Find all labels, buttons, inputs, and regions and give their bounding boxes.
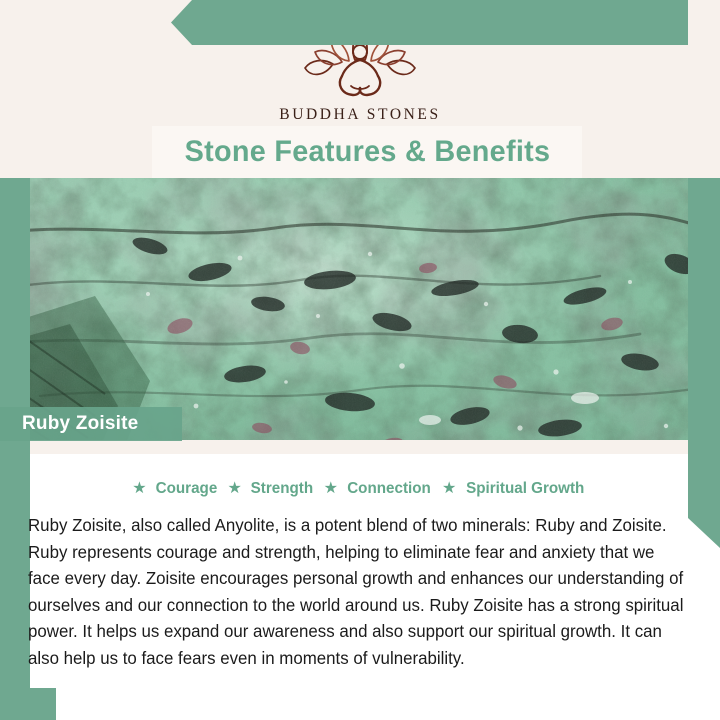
benefits-list: ★ Courage ★ Strength ★ Connection ★ Spir… <box>30 480 690 498</box>
benefit-label: Connection <box>347 480 431 498</box>
benefit-item-spiritual-growth: ★ Spiritual Growth <box>442 480 588 498</box>
frame-bottom-bar <box>0 688 56 720</box>
benefit-label: Courage <box>155 480 217 498</box>
benefit-item-strength: ★ Strength <box>227 480 314 498</box>
page-title-band: Stone Features & Benefits <box>152 126 582 178</box>
infographic-page: BUDDHA STONES Stone Features & Benefits … <box>0 0 720 720</box>
star-icon: ★ <box>324 481 338 497</box>
star-icon: ★ <box>227 481 241 497</box>
stone-description: Ruby Zoisite, also called Anyolite, is a… <box>28 512 684 672</box>
star-icon: ★ <box>132 481 146 497</box>
page-title: Stone Features & Benefits <box>184 135 550 169</box>
benefit-label: Spiritual Growth <box>466 480 584 498</box>
frame-top-bar <box>150 0 720 45</box>
stone-name: Ruby Zoisite <box>22 413 138 435</box>
benefit-label: Strength <box>250 480 312 498</box>
star-icon: ★ <box>442 481 456 497</box>
panel-top-strip <box>30 440 688 454</box>
stone-name-banner: Ruby Zoisite <box>0 407 182 441</box>
benefit-item-courage: ★ Courage <box>132 480 218 498</box>
brand-name: BUDDHA STONES <box>279 106 440 124</box>
benefit-item-connection: ★ Connection <box>324 480 433 498</box>
